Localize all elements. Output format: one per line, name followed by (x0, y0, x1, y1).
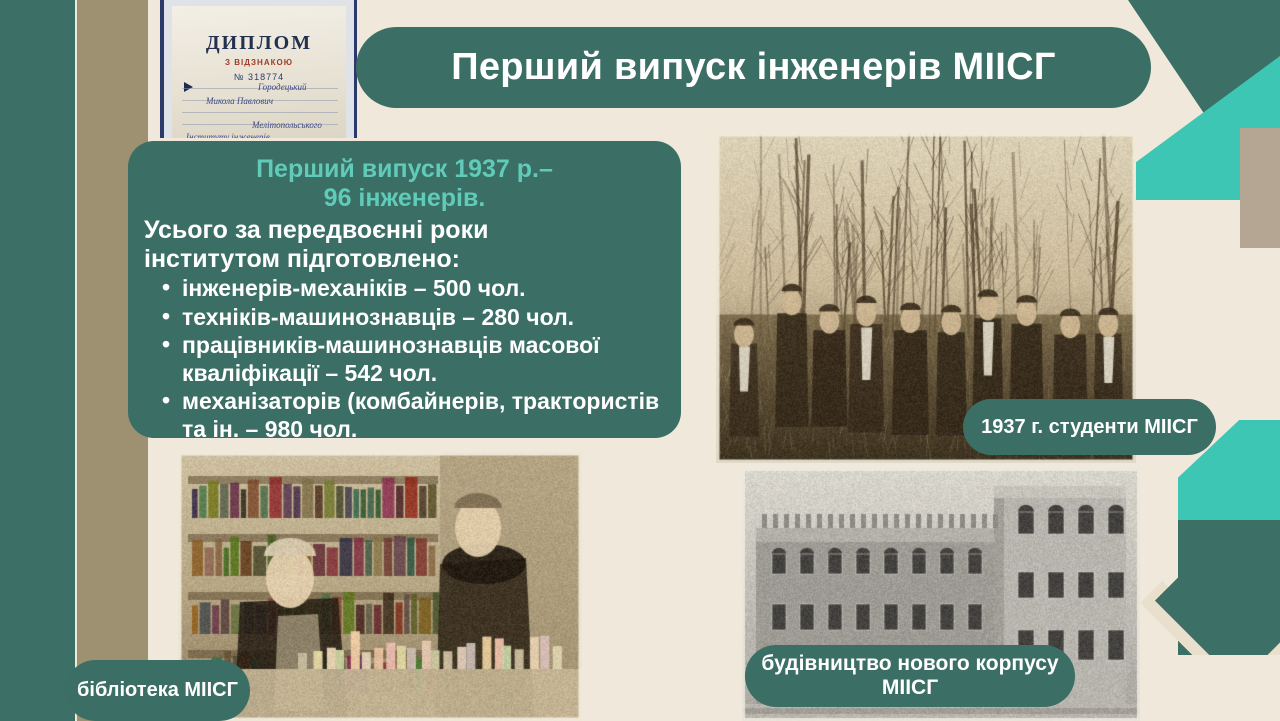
diploma-subtitle: З ВІДЗНАКОЮ (172, 58, 346, 67)
content-lead-line1: Усього за передвоєнні роки (144, 216, 488, 244)
list-item: техніків-машинознавців – 280 чол. (162, 304, 665, 332)
content-heading-line2: 96 інженерів. (324, 184, 486, 212)
list-item: працівників-машинознавців масової кваліф… (162, 332, 665, 387)
content-lead: Усього за передвоєнні роки інститутом пі… (144, 216, 665, 274)
content-box: Перший випуск 1937 р.– 96 інженерів. Усь… (128, 141, 681, 438)
diploma-handwriting-name: Микола Павлович (206, 96, 273, 106)
diploma-title: ДИПЛОМ (172, 32, 346, 55)
diploma-paper: ДИПЛОМ З ВІДЗНАКОЮ № 318774 Городецький … (172, 6, 346, 138)
left-teal-stripe (0, 0, 75, 721)
content-heading-line1: Перший випуск 1937 р.– (256, 155, 553, 183)
caption-building: будівництво нового корпусу МІІСГ (745, 645, 1075, 707)
content-list: інженерів-механіків – 500 чол. техніків-… (144, 275, 665, 444)
diploma-number: № 318774 (172, 72, 346, 82)
slide-title-pill: Перший випуск інженерів МІІСГ (356, 27, 1151, 108)
list-item: інженерів-механіків – 500 чол. (162, 275, 665, 303)
diploma-handwriting-institute-city: Мелітопольського (252, 120, 322, 130)
diploma-handwriting-surname: Городецький (258, 82, 307, 92)
slide-root: ДИПЛОМ З ВІДЗНАКОЮ № 318774 Городецький … (0, 0, 1280, 721)
diploma-image: ДИПЛОМ З ВІДЗНАКОЮ № 318774 Городецький … (160, 0, 357, 138)
caption-students: 1937 г. студенти МІІСГ (963, 399, 1216, 455)
decor-block-tan-right (1240, 128, 1280, 248)
diploma-handwriting-institute: Інституту інженерів (186, 132, 270, 138)
caption-library: бібліотека МІІСГ (65, 660, 250, 721)
decor-bottom-right-cream (1178, 655, 1280, 721)
page-title: Перший випуск інженерів МІІСГ (451, 46, 1056, 89)
content-heading: Перший випуск 1937 р.– 96 інженерів. (144, 155, 665, 212)
list-item: механізаторів (комбайнерів, трактористів… (162, 388, 665, 443)
content-lead-line2: інститутом підготовлено: (144, 245, 665, 274)
